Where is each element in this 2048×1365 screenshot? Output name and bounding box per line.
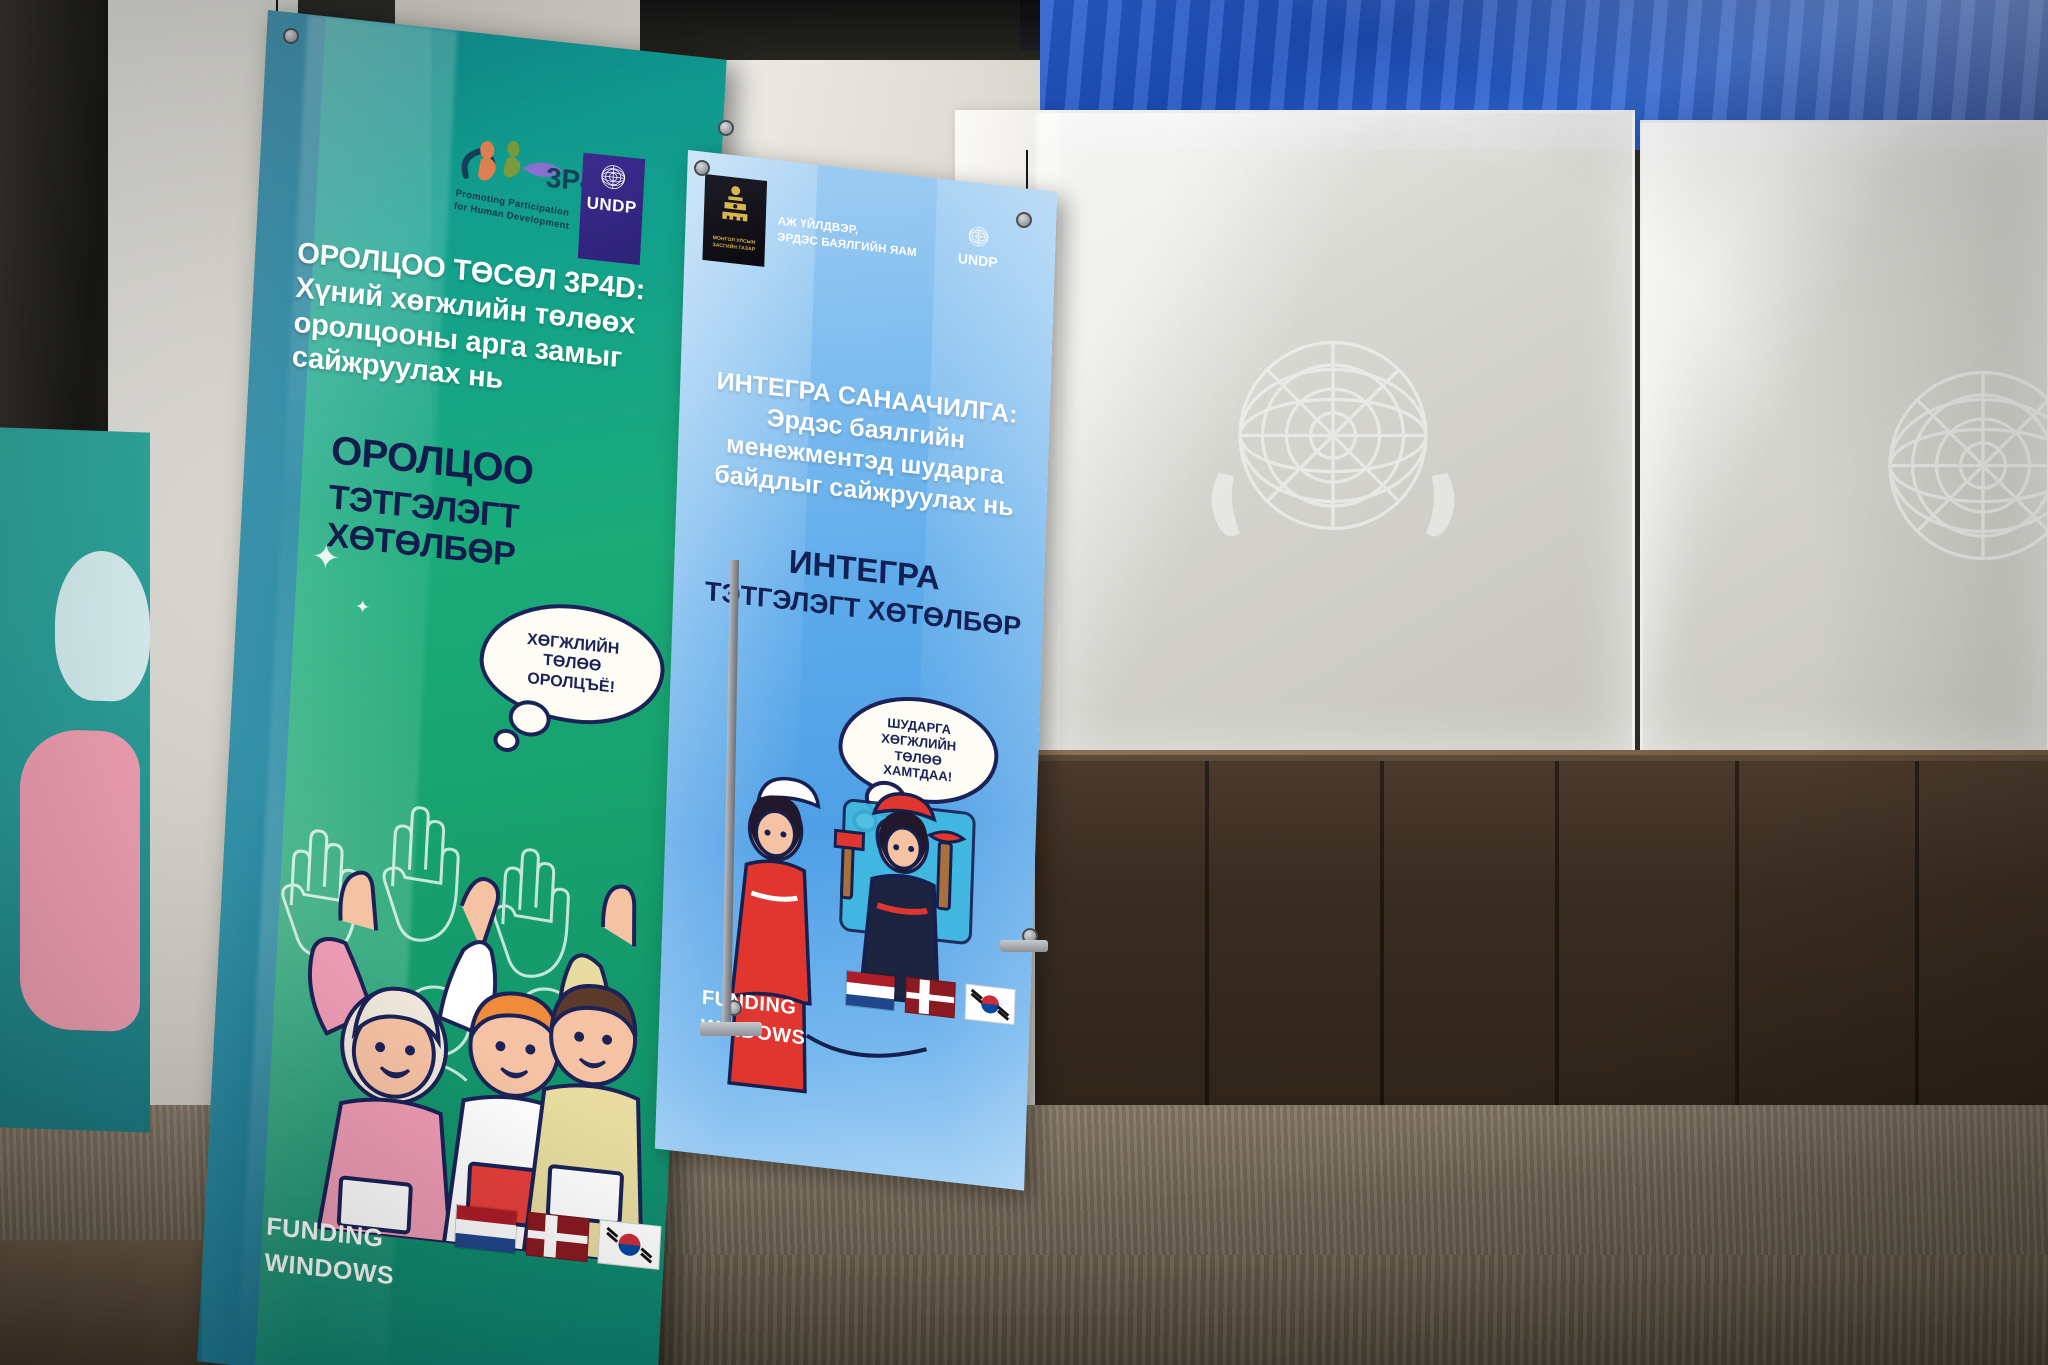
workers-illustration-svg [685,762,1025,1119]
undp-wordmark: UNDP [580,194,643,216]
banner-stand-base-green [700,1022,762,1036]
wood-panel-wall [1035,755,2048,1125]
gov-emblem-caption: МОНГОЛ УЛСЫН ЗАСГИЙН ГАЗАР [712,235,755,253]
un-emblem [1833,323,2048,623]
ceiling-dark-strip [640,0,1060,60]
frosted-glass-panel-right [1640,120,2048,760]
left-poster-fragment [0,427,150,1132]
sparkle-icon: ✦ [311,536,342,579]
un-emblem-small [589,159,637,196]
denmark-flag [526,1212,590,1263]
soyombo-emblem-icon [714,181,756,235]
undp-logo-green-banner: UNDP [578,153,645,265]
netherlands-flag [845,970,896,1012]
banner-grommet-blue-top [694,160,710,176]
banner-grommet-blue-right [1016,212,1032,228]
funding-windows-green: FUNDING WINDOWS [264,1208,397,1294]
denmark-flag [905,977,956,1019]
illustration-people-green [235,701,691,1266]
illustration-workers-blue [685,762,1025,1119]
banner-stand-base-blue [1000,940,1048,952]
people-illustration-svg [235,701,691,1266]
speech-bubble-green: ХӨГЖЛИЙН ТӨЛӨӨ ОРОЛЦЪЁ! [477,595,668,733]
sparkle-icon-small: ✦ [354,596,370,619]
funding-windows-blue: FUNDING WINDOWS [700,984,806,1054]
banner-grommet-top-left [283,28,299,44]
frosted-glass-panel [1035,110,1635,760]
banner-grommet-top-right [718,120,734,136]
un-emblem-small [958,221,999,254]
mongolia-government-emblem: МОНГОЛ УЛСЫН ЗАСГИЙН ГАЗАР [702,174,767,267]
south-korea-flag [965,984,1016,1026]
undp-logo-blue-banner: UNDP [951,220,1004,312]
banner-green-orolcoo[interactable]: 3P4D Promoting Participation for Human D… [197,10,727,1365]
un-emblem [1183,293,1483,593]
undp-wordmark: UNDP [953,251,1003,270]
south-korea-flag [597,1219,661,1270]
photo-scene: 3P4D Promoting Participation for Human D… [0,0,2048,1365]
netherlands-flag [454,1204,518,1255]
